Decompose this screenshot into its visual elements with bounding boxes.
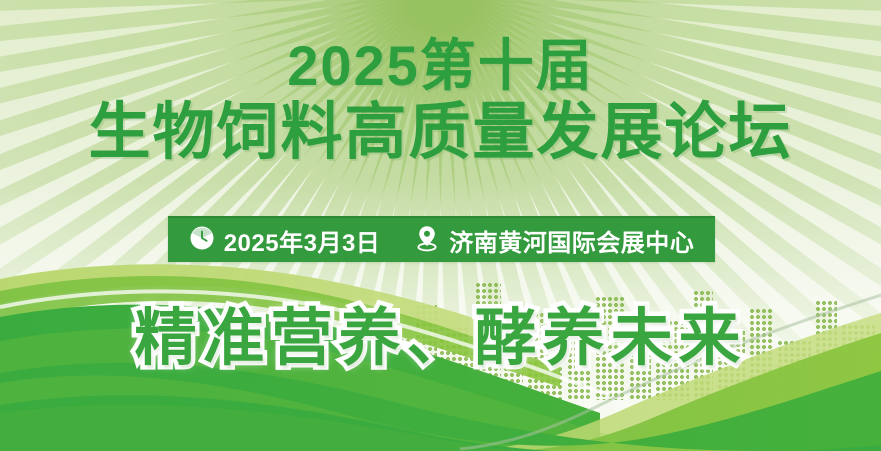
- location-pin-icon: [414, 224, 440, 257]
- event-venue-text: 济南黄河国际会展中心: [449, 223, 694, 258]
- event-date: 2025年3月3日: [189, 223, 381, 258]
- clock-icon: [189, 225, 215, 256]
- event-banner: 2025第十届 生物饲料高质量发展论坛 2025年3月3日: [0, 0, 881, 451]
- event-info-bar: 2025年3月3日 济南黄河国际会展中心: [168, 216, 715, 262]
- event-date-text: 2025年3月3日: [224, 223, 381, 258]
- wave-graphics: [0, 255, 881, 451]
- event-venue: 济南黄河国际会展中心: [414, 223, 694, 258]
